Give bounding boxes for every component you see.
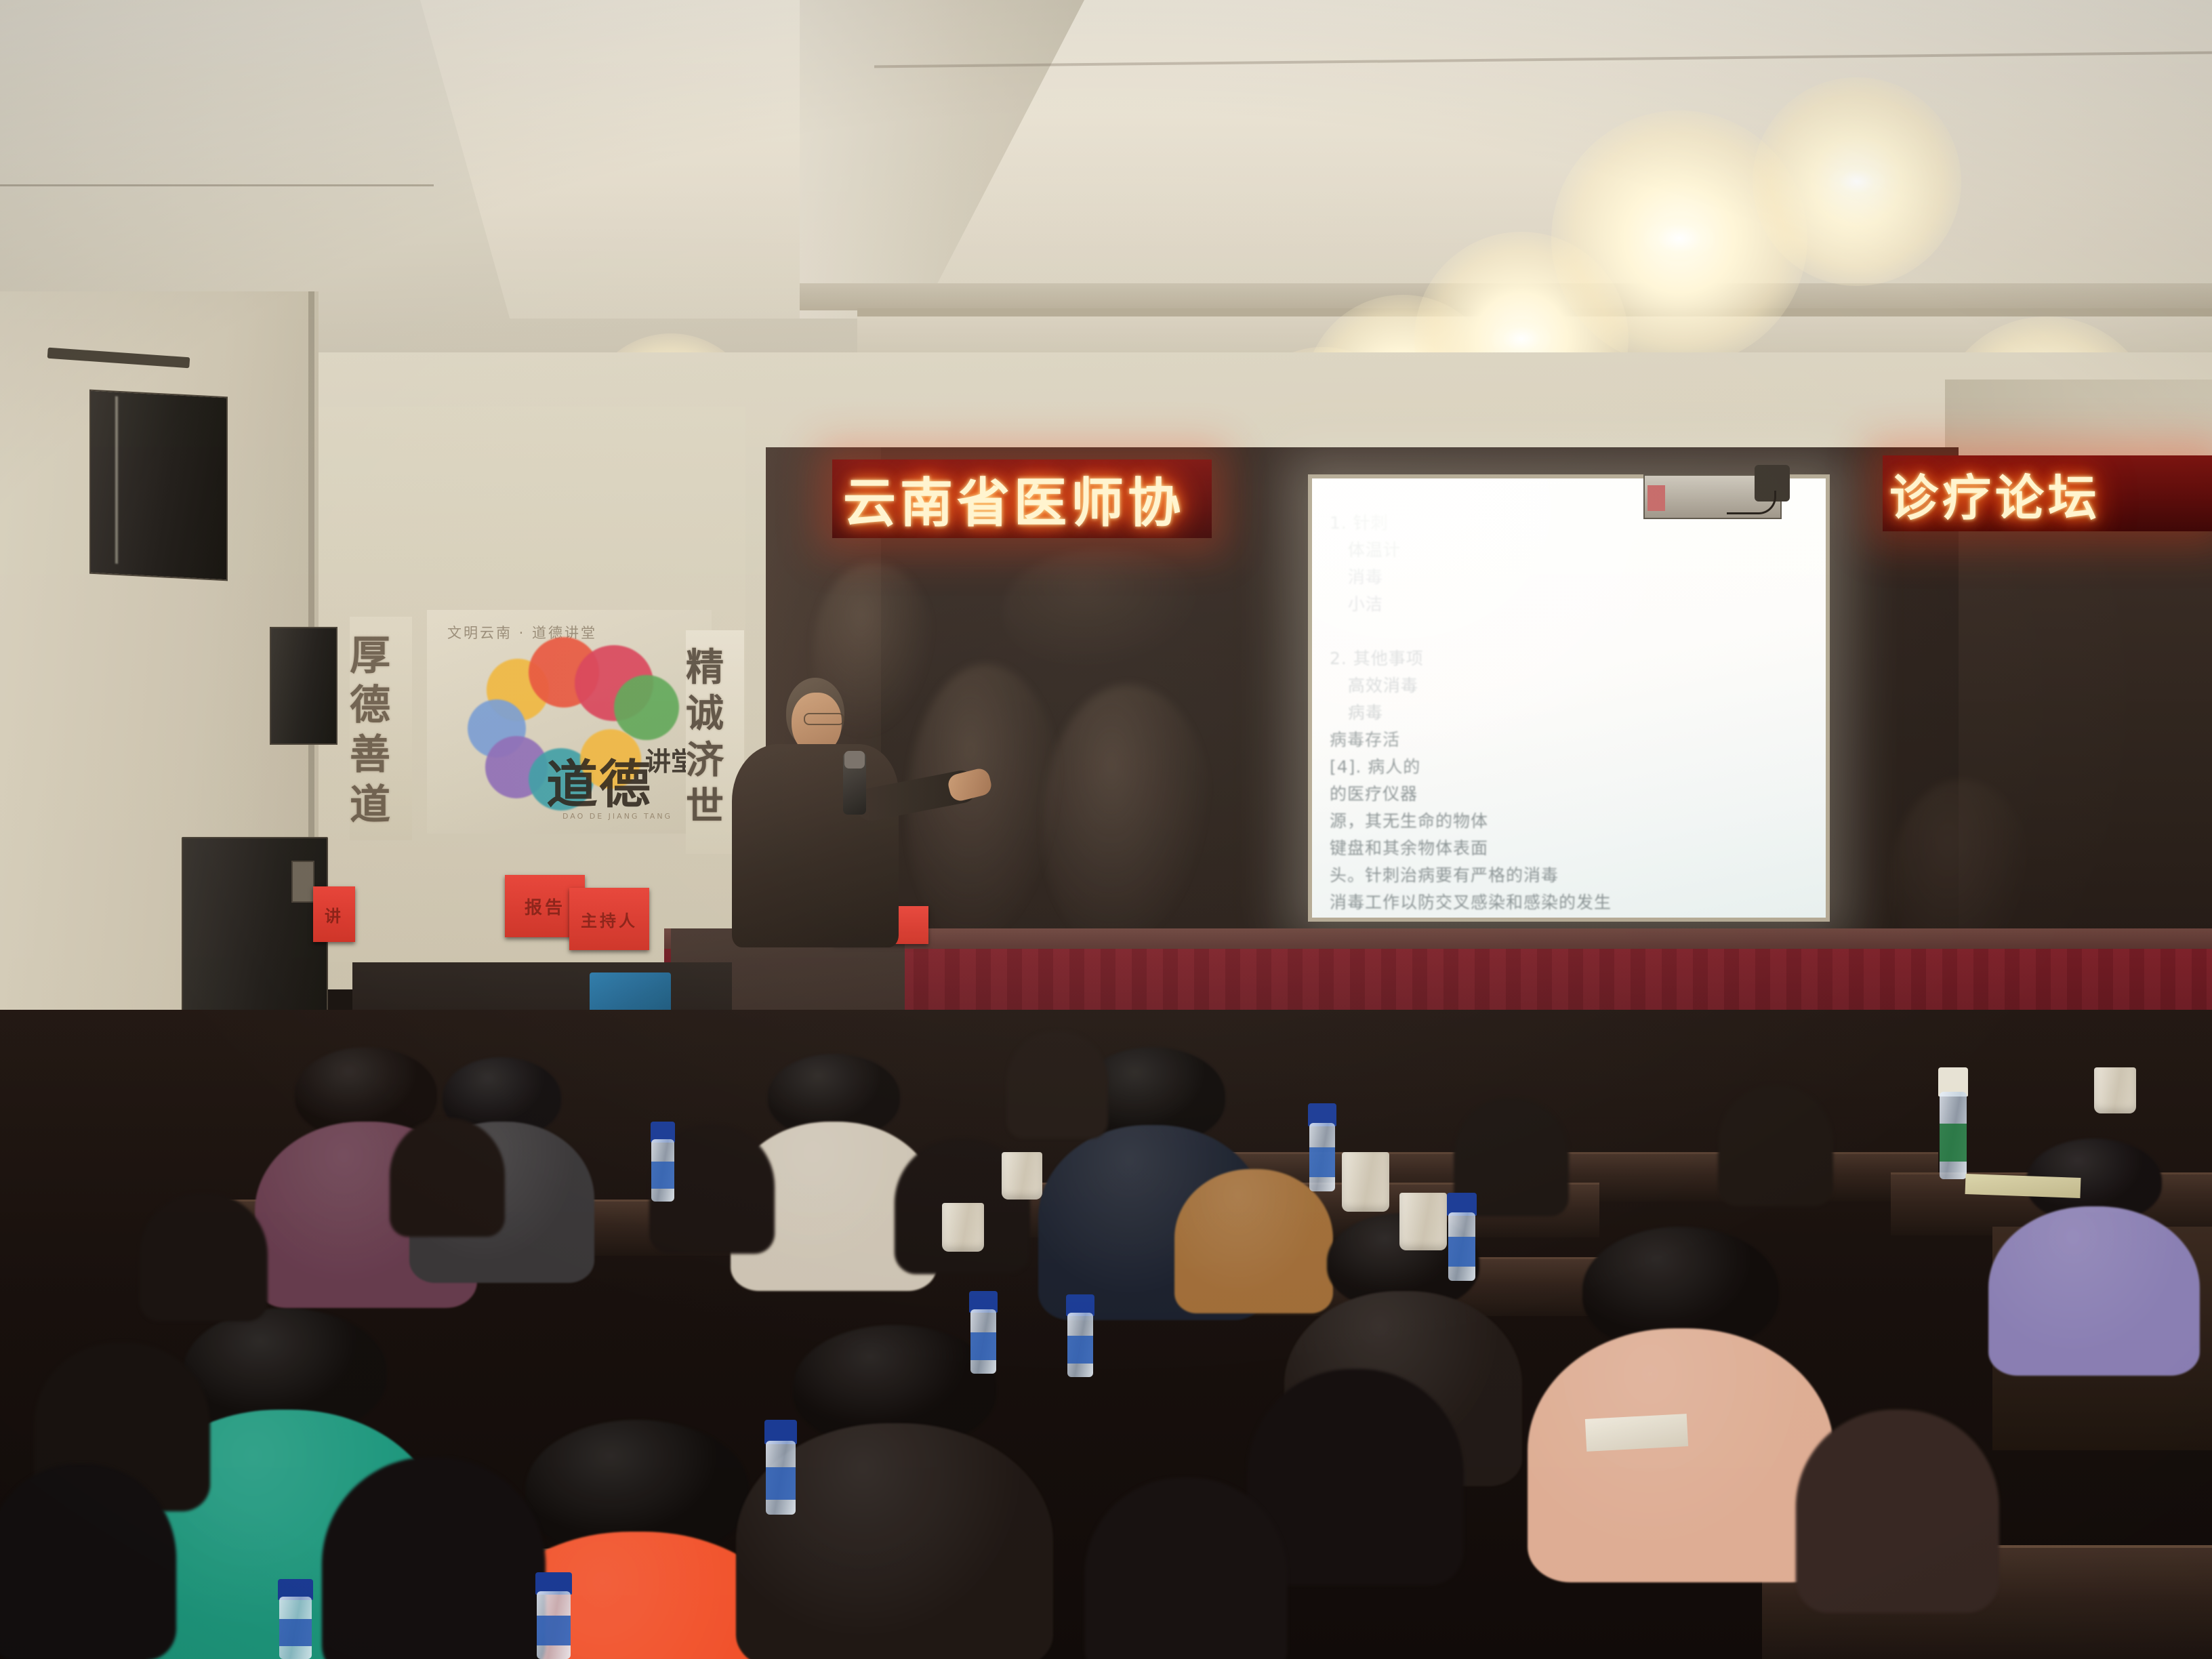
bottle-label <box>1940 1124 1967 1162</box>
name-placard-text: 主持人 <box>581 907 638 931</box>
audience-silhouette <box>0 1464 176 1659</box>
bottle-label <box>970 1332 997 1360</box>
screen-glare <box>1312 478 1723 786</box>
projector-cable <box>1727 491 1776 514</box>
led-banner-left: 云南省医师协 <box>832 459 1212 538</box>
led-banner-right: 诊疗论坛 <box>1883 455 2212 531</box>
speaker-handle <box>291 861 314 903</box>
projection-screen-frame: 1. 针刺 体温计 消毒 小洁 2. 其他事项 高效消毒 病毒 病毒存活 [4]… <box>1308 474 1830 922</box>
logo-petal <box>614 675 679 740</box>
audience-body <box>1528 1328 1834 1582</box>
water-bottle <box>1066 1294 1094 1377</box>
paper-cup <box>1399 1193 1447 1250</box>
water-bottle <box>764 1420 797 1515</box>
ceiling-light <box>1643 216 1716 262</box>
paper-right-desk <box>1965 1174 2081 1198</box>
presenter-torso <box>732 744 899 947</box>
bottle-label <box>651 1162 674 1189</box>
audience-silhouette <box>1084 1477 1288 1659</box>
name-placard-text: 报告 <box>525 894 565 919</box>
logo-title-text: 道德 <box>546 743 652 817</box>
audience-silhouette <box>322 1457 546 1659</box>
ceiling-light <box>1828 163 1887 201</box>
audience-silhouette <box>1006 1030 1108 1139</box>
paper-cup <box>942 1203 984 1252</box>
lecture-hall-photo: 云南省医师协 诊疗论坛 1. 针刺 体温计 消毒 小洁 2. 其他事项 高效消毒… <box>0 0 2212 1659</box>
ceiling-soffit-edge <box>857 308 2212 316</box>
morality-hall-logo-panel: 文明云南 · 道德讲堂 道德 讲堂 DAO DE JIANG TANG <box>427 610 712 834</box>
ceiling-seam-left <box>0 184 434 186</box>
bottle-label <box>279 1619 312 1646</box>
wall-speaker-lower <box>270 627 337 745</box>
name-placard-text: 讲 <box>325 903 344 926</box>
backdrop-relief-figure-right <box>1044 684 1213 956</box>
led-banner-right-text: 诊疗论坛 <box>1883 458 2101 529</box>
water-bottle <box>535 1572 572 1659</box>
glasses-icon <box>804 713 844 725</box>
speaker-grille-seam <box>115 396 118 564</box>
ceiling-recess <box>420 0 2212 319</box>
water-bottle <box>278 1579 313 1659</box>
paper-cup <box>1002 1152 1042 1200</box>
name-placard: 讲 <box>313 886 355 942</box>
notebook-paper <box>1585 1414 1688 1452</box>
backdrop-relief-calligraphy <box>1003 549 1206 671</box>
ceiling-projector <box>1643 474 1782 519</box>
calligraphy-scroll-left: 厚德善道 <box>350 617 412 840</box>
bottle-label <box>537 1616 571 1645</box>
bottle-label <box>1067 1336 1094 1364</box>
led-banner-left-text: 云南省医师协 <box>832 461 1185 537</box>
projector-lens <box>1647 485 1665 511</box>
wall-speaker-upper <box>89 390 228 581</box>
microphone-head <box>844 751 865 769</box>
bottle-label <box>1448 1237 1475 1267</box>
water-bottle <box>1308 1103 1336 1191</box>
audience-silhouette <box>1796 1410 1999 1613</box>
water-bottle <box>1447 1193 1477 1281</box>
logo-pinyin-text: DAO DE JIANG TANG <box>562 812 672 821</box>
ceiling-step <box>800 283 2212 310</box>
name-placard: 主持人 <box>569 888 649 950</box>
calligraphy-left-text: 厚德善道 <box>350 632 412 830</box>
water-bottle <box>1938 1067 1968 1179</box>
audience-silhouette <box>139 1193 268 1322</box>
water-bottle <box>969 1291 998 1374</box>
audience-body <box>1988 1206 2200 1376</box>
audience-silhouette <box>390 1118 505 1237</box>
projection-screen: 1. 针刺 体温计 消毒 小洁 2. 其他事项 高效消毒 病毒 病毒存活 [4]… <box>1312 478 1826 918</box>
paper-cup <box>2094 1067 2136 1113</box>
bottle-label <box>1309 1147 1336 1177</box>
bottle-label <box>766 1467 796 1500</box>
paper-cup <box>1342 1152 1389 1212</box>
audience-silhouette <box>1718 1084 1833 1206</box>
water-bottle <box>651 1122 675 1202</box>
